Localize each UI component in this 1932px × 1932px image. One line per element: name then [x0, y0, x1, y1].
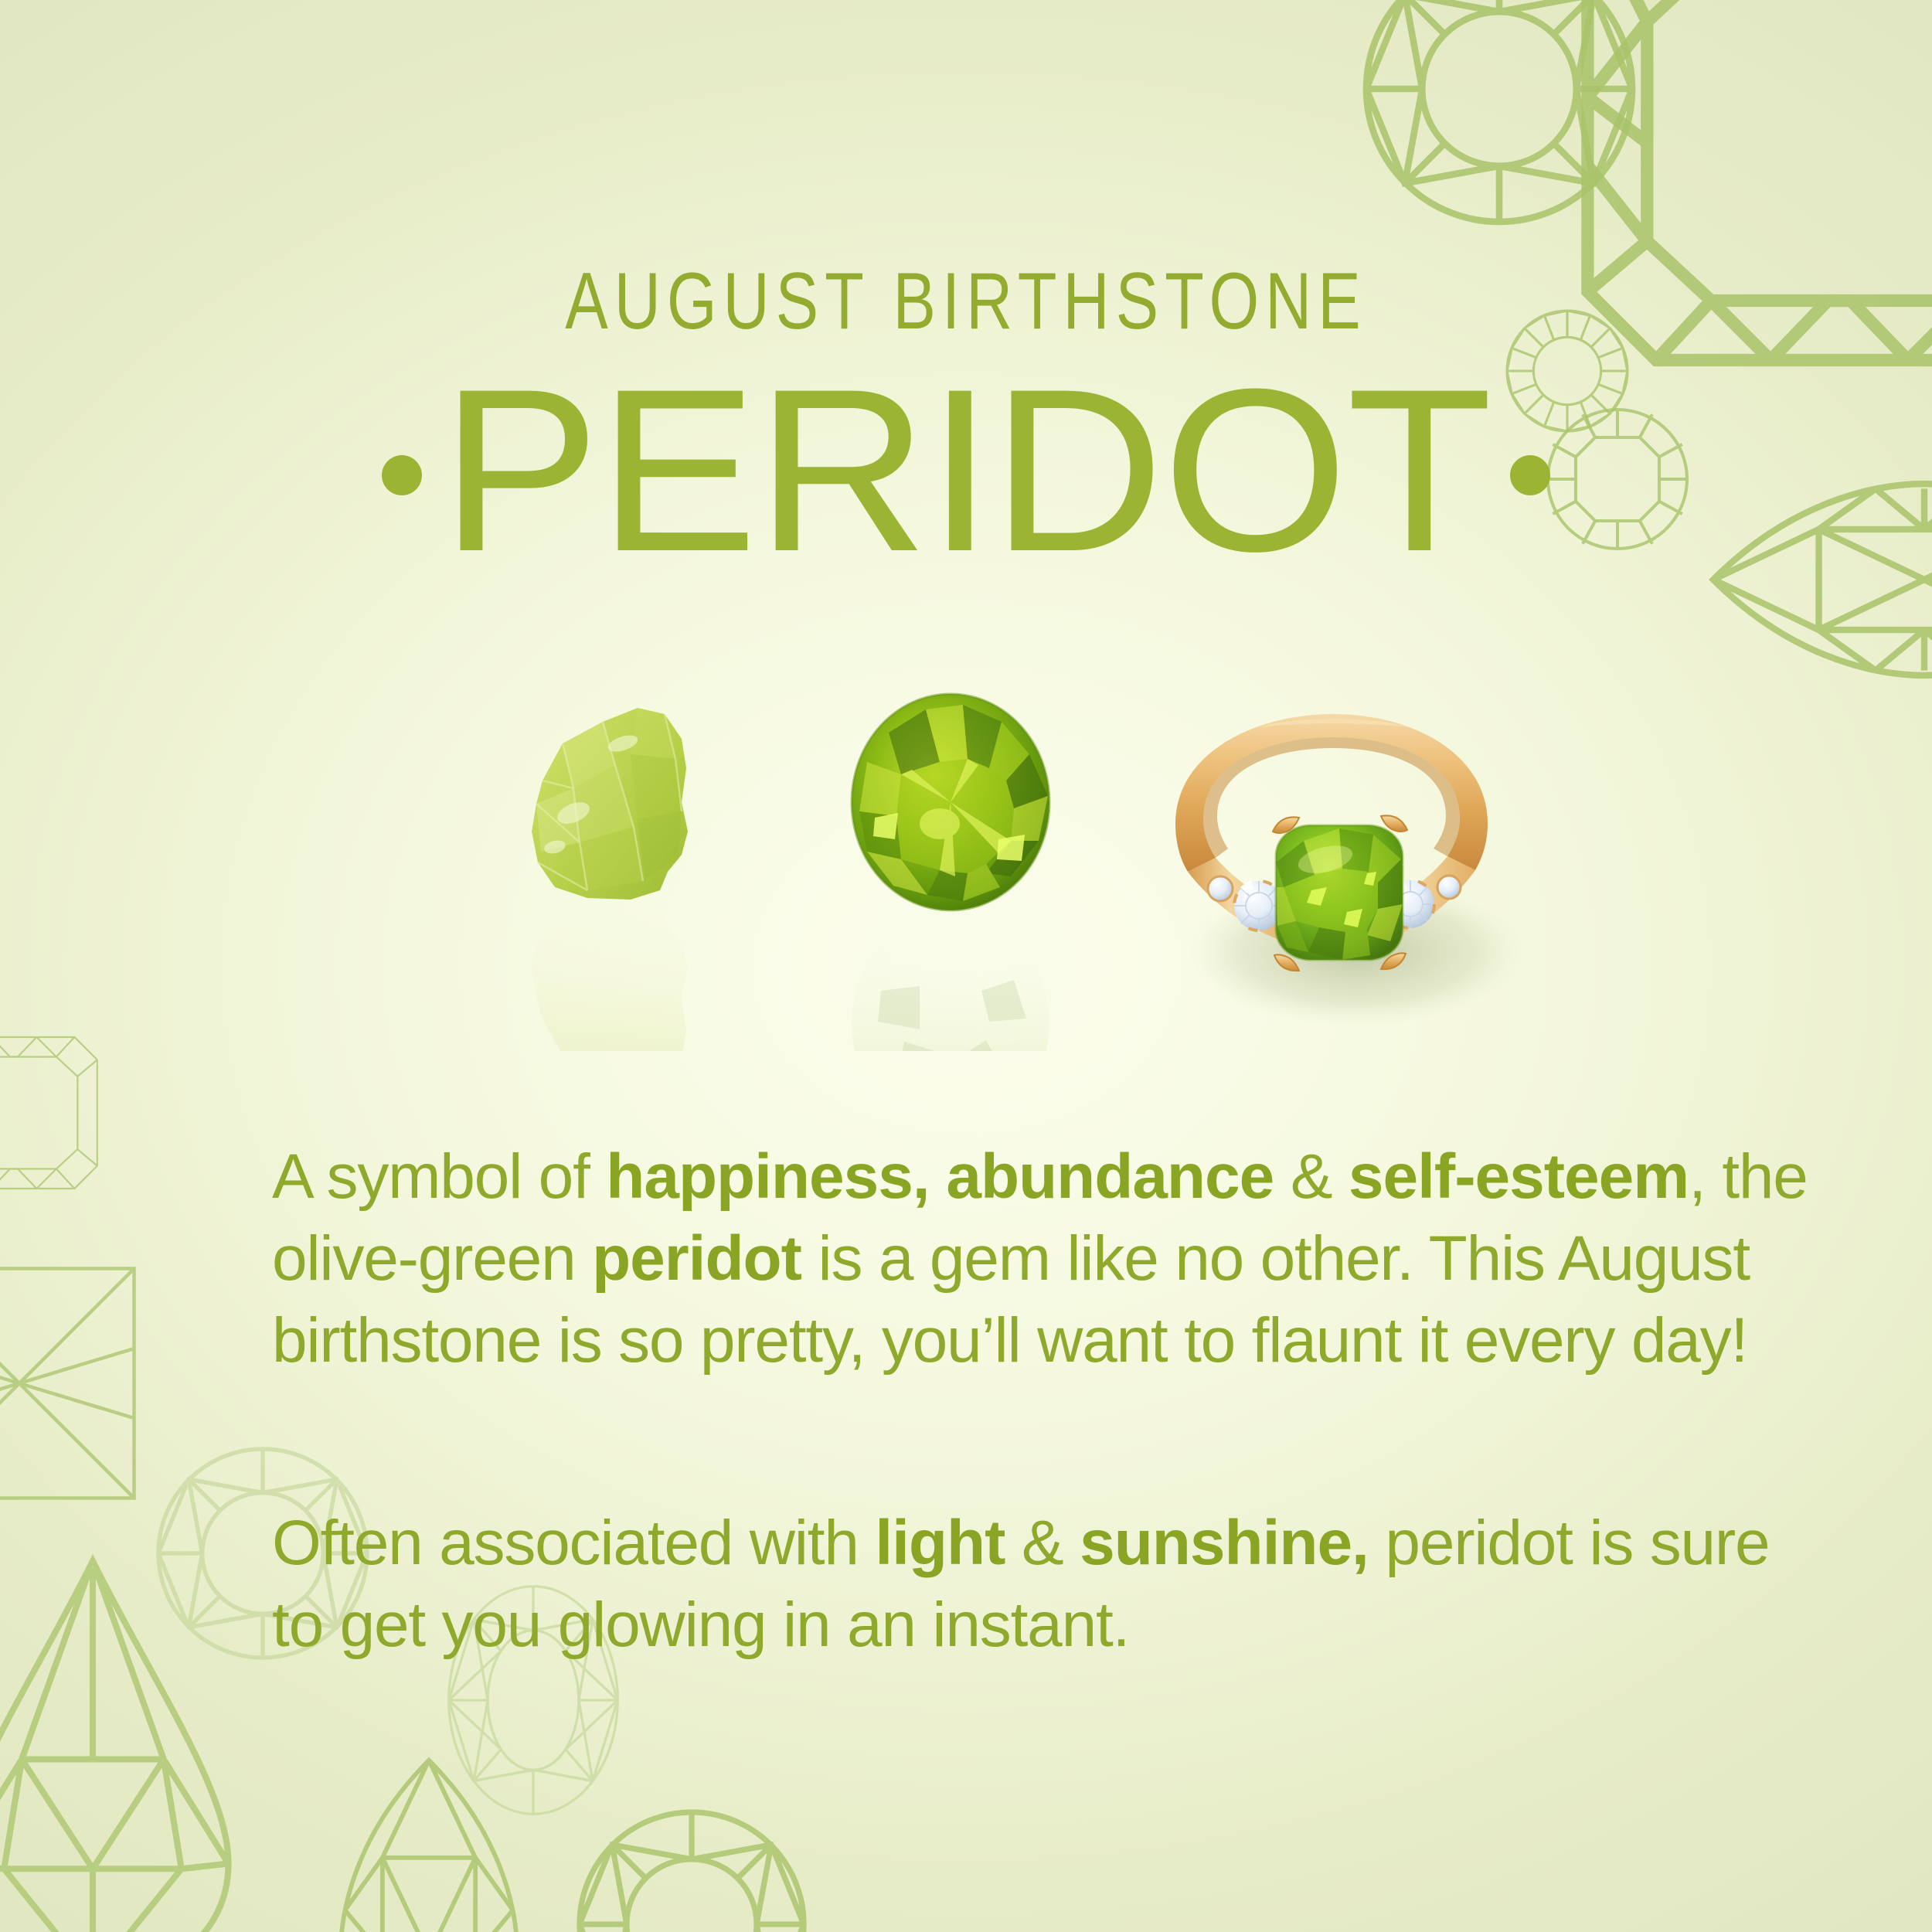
- emphasis-text: light: [875, 1508, 1005, 1578]
- body-text: A symbol of: [272, 1141, 606, 1212]
- oval-cut-peridot: [804, 688, 1113, 1051]
- body-paragraph-1: A symbol of happiness, abundance & self-…: [272, 1136, 1818, 1381]
- emphasis-text: sunshine,: [1080, 1508, 1369, 1578]
- body-text: Often associated with: [272, 1508, 875, 1578]
- body-text: &: [1274, 1141, 1349, 1212]
- peridot-birthstone-poster: AUGUST BIRTHSTONE PERIDOT: [0, 0, 1932, 1932]
- peridot-gold-ring: [1101, 680, 1534, 1043]
- title-dot-left-icon: [382, 455, 422, 495]
- rough-peridot-crystal: [471, 688, 796, 1051]
- body-paragraph-2: Often associated with light & sunshine, …: [272, 1502, 1818, 1666]
- emphasis-text: happiness, abundance: [606, 1141, 1274, 1212]
- page-title: PERIDOT: [440, 363, 1491, 577]
- emphasis-text: peridot: [592, 1223, 801, 1294]
- emphasis-text: self-esteem: [1349, 1141, 1689, 1212]
- page-eyebrow: AUGUST BIRTHSTONE: [193, 261, 1739, 342]
- title-row: PERIDOT: [0, 363, 1932, 577]
- body-text: &: [1005, 1508, 1080, 1578]
- gemstone-showcase-row: [0, 696, 1932, 1051]
- title-dot-right-icon: [1510, 455, 1550, 495]
